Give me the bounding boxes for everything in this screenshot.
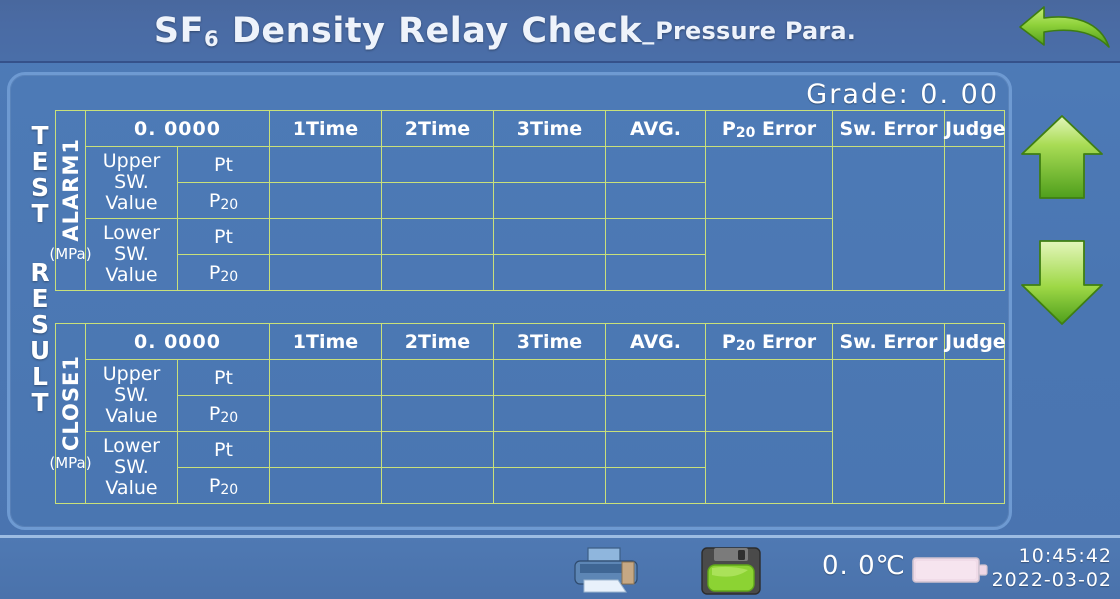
vertical-label-result-l5: L <box>32 364 48 390</box>
vertical-label-test-l1: T <box>31 123 48 149</box>
alarm1-upper-p20-1time[interactable] <box>270 183 382 219</box>
vertical-label-result-l2: E <box>31 286 48 312</box>
close1-upper-pt-label: Pt <box>178 360 270 396</box>
close1-upper-p20-avg <box>606 396 706 432</box>
col-header-3time: 3Time <box>494 324 606 360</box>
alarm1-lower-sw-line2: Value <box>86 265 177 286</box>
battery-full-icon <box>912 556 990 584</box>
vertical-label-test-l2: E <box>31 149 48 175</box>
close1-upper-p20-3time[interactable] <box>494 396 606 432</box>
alarm1-table: ALARM1 (MPa) 0. 0000 1Time 2Time 3Time A… <box>55 110 1005 291</box>
alarm1-table-wrapper: ALARM1 (MPa) 0. 0000 1Time 2Time 3Time A… <box>55 110 1005 291</box>
clock-time: 10:45:42 <box>984 544 1112 568</box>
alarm1-set-value: 0. 0000 <box>86 111 270 147</box>
close1-upper-pt-1time[interactable] <box>270 360 382 396</box>
alarm1-upper-pt-3time[interactable] <box>494 147 606 183</box>
close1-name: CLOSE1 <box>59 355 83 451</box>
col-header-sw-error: Sw. Error <box>833 324 945 360</box>
close1-lower-sw-label: Lower SW. Value <box>86 432 178 504</box>
table-row: Upper SW. Value Pt <box>56 147 1005 183</box>
alarm1-lower-pt-label: Pt <box>178 219 270 255</box>
app-root: SF6 Density Relay Check_Pressure Para. <box>0 0 1120 599</box>
alarm1-upper-sw-label: Upper SW. Value <box>86 147 178 219</box>
back-button[interactable] <box>1012 2 1116 60</box>
title-bar: SF6 Density Relay Check_Pressure Para. <box>0 0 1120 63</box>
close1-unit: (MPa) <box>49 454 91 472</box>
alarm1-upper-p20-avg <box>606 183 706 219</box>
close1-judge <box>945 360 1005 504</box>
page-title: SF6 Density Relay Check_Pressure Para. <box>0 0 1010 61</box>
close1-lower-sw-line2: Value <box>86 478 177 499</box>
close1-name-cell: CLOSE1 (MPa) <box>56 324 86 504</box>
col-header-1time: 1Time <box>270 111 382 147</box>
col-header-p20-error: P20 Error <box>706 111 833 147</box>
close1-upper-p20-1time[interactable] <box>270 396 382 432</box>
alarm1-lower-p20-1time[interactable] <box>270 255 382 291</box>
close1-upper-p20-label: P20 <box>178 396 270 432</box>
alarm1-judge <box>945 147 1005 291</box>
grade-label: Grade: 0. 00 <box>806 79 999 110</box>
close1-sw-error <box>833 360 945 504</box>
down-arrow-icon <box>1016 235 1108 330</box>
alarm1-p20-error-upper <box>706 147 833 219</box>
close1-upper-pt-avg <box>606 360 706 396</box>
printer-icon <box>570 544 640 596</box>
close1-lower-pt-2time[interactable] <box>382 432 494 468</box>
close1-upper-pt-2time[interactable] <box>382 360 494 396</box>
col-header-2time: 2Time <box>382 111 494 147</box>
col-header-sw-error: Sw. Error <box>833 111 945 147</box>
clock-date: 2022-03-02 <box>984 568 1112 592</box>
col-header-judge: Judge <box>945 324 1005 360</box>
vertical-label-result-l6: T <box>31 390 48 416</box>
col-header-2time: 2Time <box>382 324 494 360</box>
col-header-avg: AVG. <box>606 324 706 360</box>
close1-lower-sw-line1: Lower SW. <box>86 436 177 479</box>
col-header-1time: 1Time <box>270 324 382 360</box>
alarm1-upper-sw-line2: Value <box>86 193 177 214</box>
alarm1-name-cell: ALARM1 (MPa) <box>56 111 86 291</box>
temperature-readout: 0. 0℃ <box>822 551 906 581</box>
save-button[interactable] <box>700 546 762 596</box>
alarm1-lower-pt-avg <box>606 219 706 255</box>
close1-table-wrapper: CLOSE1 (MPa) 0. 0000 1Time 2Time 3Time A… <box>55 323 1005 504</box>
alarm1-lower-pt-3time[interactable] <box>494 219 606 255</box>
back-arrow-icon <box>1014 3 1114 59</box>
alarm1-lower-p20-3time[interactable] <box>494 255 606 291</box>
close1-lower-pt-avg <box>606 432 706 468</box>
vertical-label-test-l3: S <box>31 175 49 201</box>
close1-lower-pt-3time[interactable] <box>494 432 606 468</box>
clock-display: 10:45:42 2022-03-02 <box>984 544 1112 593</box>
sf6-subscript: 6 <box>204 27 219 51</box>
up-arrow-icon <box>1016 110 1108 205</box>
vertical-label-result: R E S U L T <box>24 260 56 416</box>
alarm1-upper-p20-label: P20 <box>178 183 270 219</box>
close1-lower-p20-avg <box>606 468 706 504</box>
table-header-row: CLOSE1 (MPa) 0. 0000 1Time 2Time 3Time A… <box>56 324 1005 360</box>
close1-lower-pt-1time[interactable] <box>270 432 382 468</box>
alarm1-lower-p20-2time[interactable] <box>382 255 494 291</box>
close1-p20-error-upper <box>706 360 833 432</box>
close1-lower-p20-2time[interactable] <box>382 468 494 504</box>
title-separator: _ <box>642 17 654 45</box>
vertical-label-result-l4: U <box>30 338 50 364</box>
alarm1-lower-pt-1time[interactable] <box>270 219 382 255</box>
scroll-up-button[interactable] <box>1016 110 1108 205</box>
alarm1-lower-sw-line1: Lower SW. <box>86 223 177 266</box>
vertical-label-test: T E S T <box>24 123 56 227</box>
page-title-main: SF6 Density Relay Check <box>154 11 642 51</box>
close1-lower-p20-label: P20 <box>178 468 270 504</box>
table-row: Upper SW. Value Pt <box>56 360 1005 396</box>
close1-lower-pt-label: Pt <box>178 432 270 468</box>
print-button[interactable] <box>570 544 640 596</box>
close1-upper-sw-line2: Value <box>86 406 177 427</box>
close1-upper-sw-label: Upper SW. Value <box>86 360 178 432</box>
alarm1-lower-pt-2time[interactable] <box>382 219 494 255</box>
table-header-row: ALARM1 (MPa) 0. 0000 1Time 2Time 3Time A… <box>56 111 1005 147</box>
results-panel: Grade: 0. 00 T E S T R E S U L T ALARM1 <box>7 72 1012 530</box>
alarm1-unit: (MPa) <box>49 245 91 263</box>
page-title-suffix: Pressure Para. <box>655 17 856 45</box>
alarm1-upper-pt-avg <box>606 147 706 183</box>
alarm1-lower-p20-avg <box>606 255 706 291</box>
alarm1-sw-error <box>833 147 945 291</box>
alarm1-upper-sw-line1: Upper SW. <box>86 151 177 194</box>
vertical-label-test-l4: T <box>31 201 48 227</box>
status-bar: 0. 0℃ 10:45:42 2022-03-02 <box>0 535 1120 599</box>
col-header-avg: AVG. <box>606 111 706 147</box>
alarm1-upper-p20-3time[interactable] <box>494 183 606 219</box>
col-header-p20-error: P20 Error <box>706 324 833 360</box>
close1-upper-p20-2time[interactable] <box>382 396 494 432</box>
close1-upper-sw-line1: Upper SW. <box>86 364 177 407</box>
alarm1-lower-p20-label: P20 <box>178 255 270 291</box>
scroll-down-button[interactable] <box>1016 235 1108 330</box>
col-header-judge: Judge <box>945 111 1005 147</box>
floppy-disk-save-icon <box>700 546 762 596</box>
alarm1-upper-pt-1time[interactable] <box>270 147 382 183</box>
battery-indicator <box>912 556 990 584</box>
vertical-label-result-l1: R <box>30 260 49 286</box>
close1-lower-p20-3time[interactable] <box>494 468 606 504</box>
alarm1-p20-error-lower <box>706 219 833 291</box>
alarm1-name: ALARM1 <box>59 138 83 242</box>
alarm1-lower-sw-label: Lower SW. Value <box>86 219 178 291</box>
alarm1-upper-pt-label: Pt <box>178 147 270 183</box>
vertical-label-result-l3: S <box>31 312 49 338</box>
col-header-3time: 3Time <box>494 111 606 147</box>
close1-lower-p20-1time[interactable] <box>270 468 382 504</box>
close1-set-value: 0. 0000 <box>86 324 270 360</box>
alarm1-upper-p20-2time[interactable] <box>382 183 494 219</box>
close1-table: CLOSE1 (MPa) 0. 0000 1Time 2Time 3Time A… <box>55 323 1005 504</box>
close1-upper-pt-3time[interactable] <box>494 360 606 396</box>
alarm1-upper-pt-2time[interactable] <box>382 147 494 183</box>
close1-p20-error-lower <box>706 432 833 504</box>
